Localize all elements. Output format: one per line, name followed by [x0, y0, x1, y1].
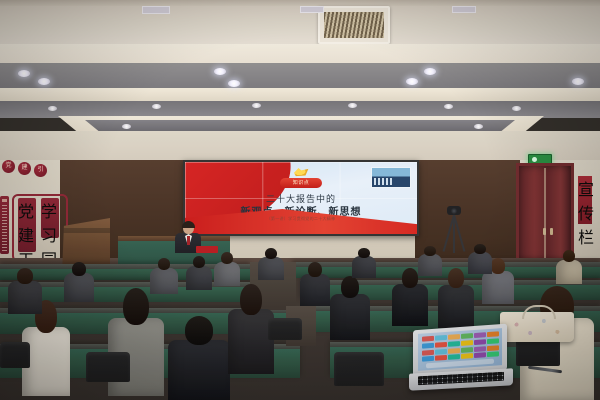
downlight-icon: [252, 103, 261, 108]
desktop-icon[interactable]: [422, 343, 434, 349]
ceiling-light-strip: [300, 6, 324, 13]
downlight-icon: [214, 68, 226, 75]
audience-person: [438, 268, 474, 328]
desktop-icon[interactable]: [422, 349, 434, 355]
desktop-icon[interactable]: [474, 352, 486, 358]
wall-board-panel: [0, 196, 9, 254]
door-handle-icon[interactable]: [543, 228, 546, 235]
door-handle-icon[interactable]: [550, 228, 553, 235]
person-body: [392, 284, 428, 326]
audience-person: [168, 316, 230, 400]
desktop-icon[interactable]: [474, 332, 486, 338]
ceiling-light-strip: [142, 6, 170, 14]
person-head: [17, 268, 33, 284]
person-body: [300, 274, 330, 306]
downlight-icon: [38, 78, 50, 85]
downlight-icon: [18, 70, 30, 77]
desktop-icon[interactable]: [487, 331, 499, 337]
downlight-icon: [348, 103, 357, 108]
desktop-icon[interactable]: [461, 347, 473, 353]
downlight-icon: [48, 106, 57, 111]
chair: [0, 342, 30, 368]
wall-board-panel: 党建工作制度: [18, 198, 36, 252]
audience-person: [352, 248, 376, 278]
person-head: [72, 262, 86, 276]
downlight-icon: [424, 68, 436, 75]
audience-person: [214, 252, 240, 286]
audience-person: [468, 244, 492, 274]
ceiling-cove-inner: [0, 88, 600, 102]
wall-board-panel: 学习园地: [41, 198, 59, 238]
desktop-icon[interactable]: [422, 336, 434, 342]
desktop-icon[interactable]: [422, 356, 434, 362]
audience-person: [392, 268, 428, 326]
audience-person: [64, 262, 94, 302]
person-head: [221, 252, 233, 264]
person-head: [240, 284, 261, 315]
downlight-icon: [572, 78, 584, 85]
downlight-icon: [228, 80, 240, 87]
person-head: [491, 258, 506, 274]
person-body: [228, 309, 274, 374]
downlight-icon: [152, 104, 161, 109]
person-body: [150, 268, 178, 294]
downlight-icon: [512, 106, 521, 111]
person-head: [358, 248, 369, 258]
person-head: [341, 276, 359, 298]
person-body: [64, 273, 94, 302]
person-head: [265, 248, 277, 259]
laptop-keyboard[interactable]: [418, 372, 504, 386]
exit-door[interactable]: [516, 163, 574, 263]
audience-person: [258, 248, 284, 280]
person-body: [438, 285, 474, 328]
downlight-icon: [444, 104, 453, 109]
audience-person: [8, 268, 42, 314]
desktop-icon[interactable]: [435, 355, 447, 361]
laptop[interactable]: [409, 327, 513, 391]
person-body: [8, 281, 42, 314]
chair: [334, 352, 384, 386]
chair: [86, 352, 130, 382]
wall-board-right: 宣传栏: [578, 176, 592, 224]
person-head: [563, 250, 575, 262]
desktop-icon[interactable]: [487, 345, 499, 351]
audience-person: [330, 276, 370, 340]
person-head: [448, 268, 465, 288]
person-body: [418, 254, 442, 276]
downlight-icon: [122, 124, 131, 129]
desktop-icon[interactable]: [487, 338, 499, 344]
person-body: [214, 262, 240, 286]
person-body: [330, 294, 370, 340]
slide-thumbnail-image: [371, 167, 411, 188]
audience-person: [150, 258, 178, 294]
person-head: [424, 246, 435, 256]
slide-badge: 知识点: [280, 178, 322, 188]
person-body: [556, 260, 582, 284]
person-head: [474, 244, 485, 254]
audience-person: [186, 256, 212, 290]
desktop-icon[interactable]: [461, 333, 473, 339]
desktop-icon[interactable]: [435, 342, 447, 348]
person-head: [402, 268, 419, 288]
desktop-icon[interactable]: [487, 352, 499, 358]
audience-person: [300, 262, 330, 306]
desktop-icon[interactable]: [461, 353, 473, 359]
hvac-vent-icon: [318, 6, 390, 44]
desktop-icon[interactable]: [448, 354, 460, 360]
wall-badge-1: 党: [2, 160, 15, 173]
video-camera-icon: [447, 206, 461, 215]
desktop-icon[interactable]: [461, 340, 473, 346]
downlight-icon: [406, 78, 418, 85]
desktop-icons[interactable]: [422, 331, 499, 362]
audience-person: [418, 246, 442, 276]
person-body: [468, 252, 492, 274]
laptop-screen[interactable]: [418, 328, 502, 371]
person-head: [123, 288, 149, 325]
desktop-icon[interactable]: [474, 339, 486, 345]
downlight-icon: [474, 124, 483, 129]
person-head: [308, 262, 322, 277]
person-body: [186, 266, 212, 290]
desktop-icon[interactable]: [435, 348, 447, 354]
person-head: [193, 256, 205, 268]
person-head: [185, 316, 214, 345]
wall-badge-3: 引: [34, 164, 47, 177]
ceiling-cove-band: [0, 44, 600, 64]
slide-subtitle: （第一讲）学习贯彻党的二十大精神: [185, 216, 417, 222]
desktop-icon[interactable]: [448, 348, 460, 354]
projection-screen: 知识点 二十大报告中的 新观点、新论断、新思想 （第一讲）学习贯彻党的二十大精神: [183, 160, 419, 236]
desktop-icon[interactable]: [448, 341, 460, 347]
chair: [268, 318, 302, 340]
conference-room-photo: 党 建 引 党建工作制度 学习园地 宣传栏 知识点 二十大报告中的 新观点、新论…: [0, 0, 600, 400]
audience-person: [556, 250, 582, 284]
person-body: [258, 257, 284, 280]
camera-tripod: [440, 206, 468, 252]
person-body: [168, 340, 230, 400]
desktop-icon[interactable]: [474, 346, 486, 352]
desktop-icon[interactable]: [448, 334, 460, 340]
wall-badge-2: 建: [18, 162, 31, 175]
person-body: [352, 256, 376, 278]
ceiling-recess-inner: [0, 101, 600, 118]
ceiling-recess-band: [0, 63, 600, 89]
person-body: [482, 271, 514, 304]
person-head: [158, 258, 171, 270]
desktop-icon[interactable]: [435, 335, 447, 341]
ceiling-light-strip: [452, 6, 476, 13]
